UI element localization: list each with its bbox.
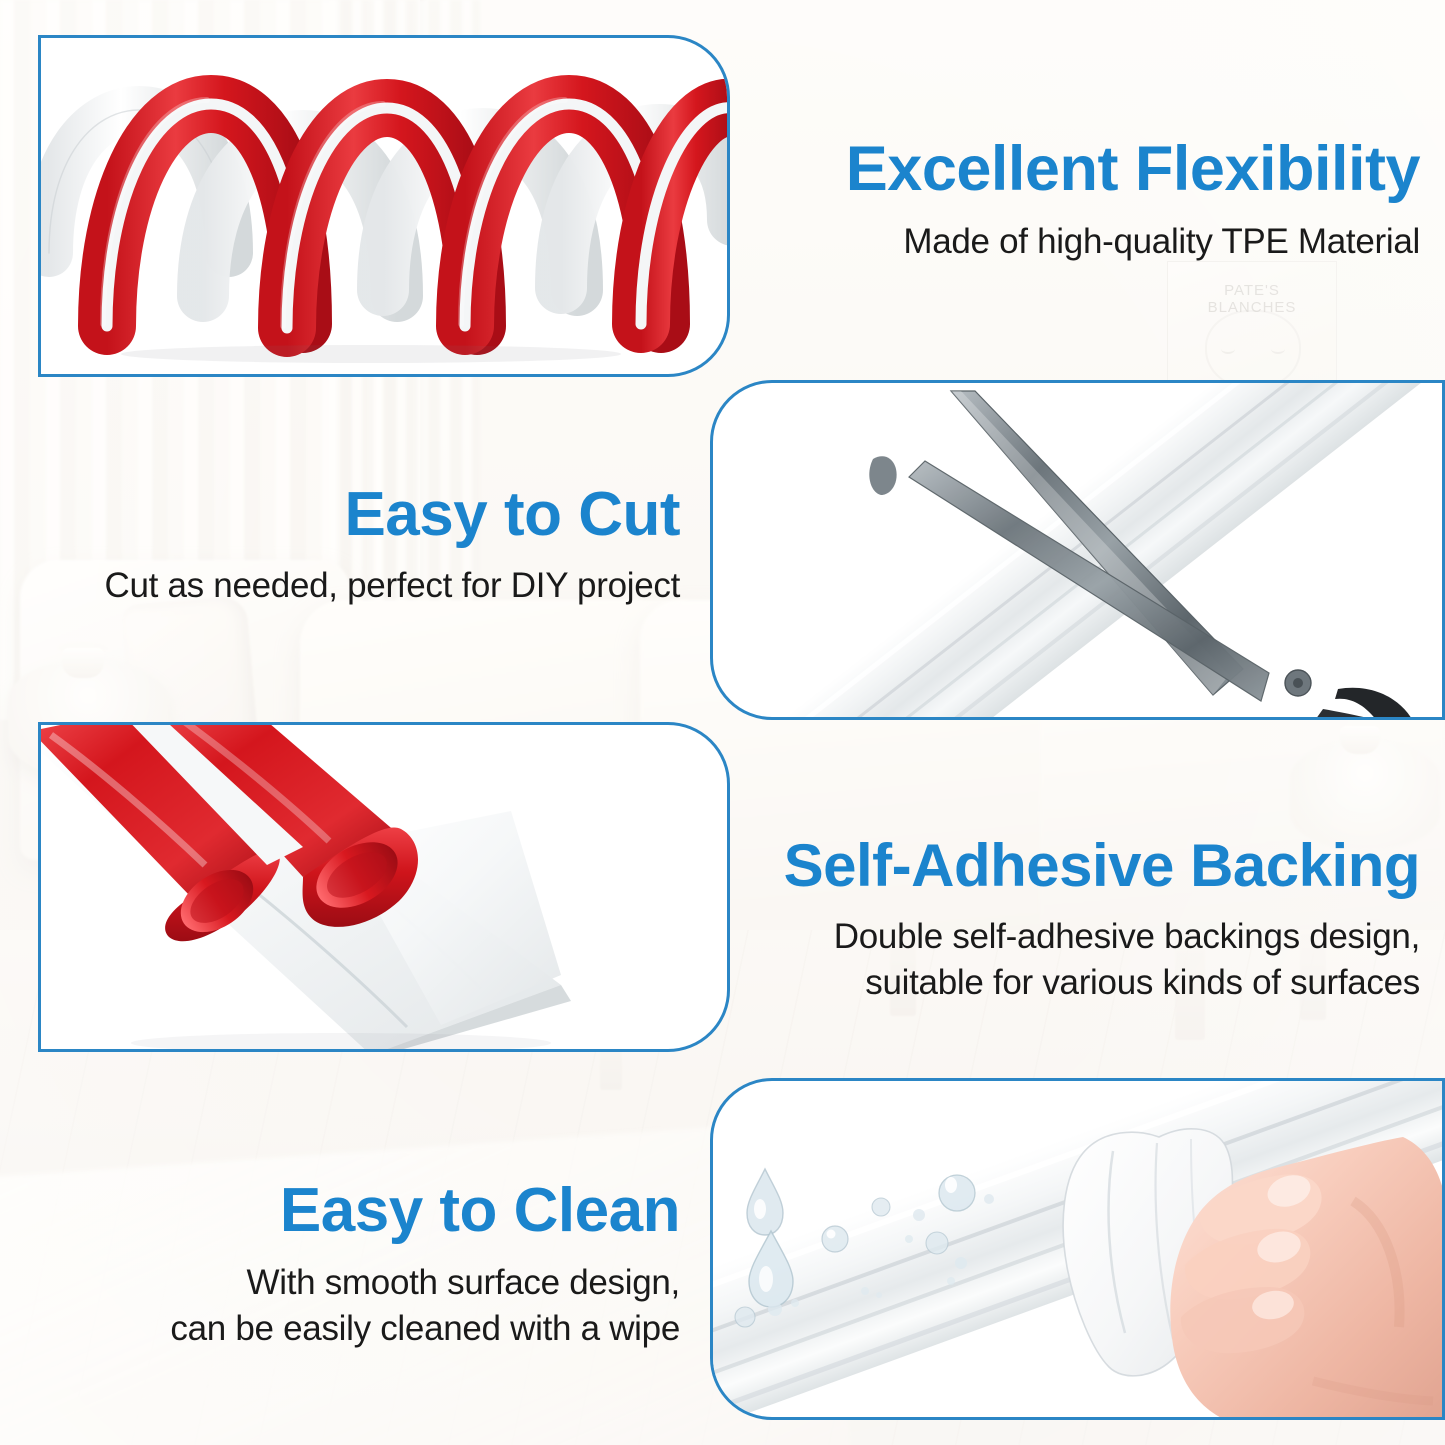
feature-subtext-easy-to-clean: With smooth surface design, can be easil… xyxy=(30,1260,680,1351)
feature-headline-flexibility: Excellent Flexibility xyxy=(760,138,1420,201)
feature-subtext-line: can be easily cleaned with a wipe xyxy=(30,1306,680,1352)
feature-text-easy-to-cut: Easy to Cut Cut as needed, perfect for D… xyxy=(30,484,680,609)
feature-image-panel-easy-to-cut xyxy=(710,380,1445,720)
infographic-canvas: PATE'S BLANCHES xyxy=(0,0,1445,1445)
feature-subtext-line: With smooth surface design, xyxy=(30,1260,680,1306)
feature-text-self-adhesive: Self-Adhesive Backing Double self-adhesi… xyxy=(760,836,1420,1005)
feature-text-flexibility: Excellent Flexibility Made of high-quali… xyxy=(760,138,1420,265)
feature-image-panel-self-adhesive xyxy=(38,722,730,1052)
feature-headline-self-adhesive: Self-Adhesive Backing xyxy=(760,836,1420,896)
feature-headline-easy-to-cut: Easy to Cut xyxy=(30,484,680,546)
coiled-strip-illustration xyxy=(41,38,727,374)
feature-subtext-line: suitable for various kinds of surfaces xyxy=(760,960,1420,1006)
feature-text-easy-to-clean: Easy to Clean With smooth surface design… xyxy=(30,1180,680,1351)
feature-subtext-line: Double self-adhesive backings design, xyxy=(760,914,1420,960)
adhesive-liner-peel-illustration xyxy=(41,725,727,1049)
scissors-cutting-illustration xyxy=(713,383,1442,717)
feature-subtext-line: Made of high-quality TPE Material xyxy=(760,219,1420,265)
feature-subtext-line: Cut as needed, perfect for DIY project xyxy=(30,563,680,609)
feature-image-panel-easy-to-clean xyxy=(710,1078,1445,1420)
feature-subtext-self-adhesive: Double self-adhesive backings design, su… xyxy=(760,914,1420,1005)
feature-image-panel-flexibility xyxy=(38,35,730,377)
feature-headline-easy-to-clean: Easy to Clean xyxy=(30,1180,680,1242)
wipe-cleaning-illustration xyxy=(713,1081,1442,1417)
feature-subtext-flexibility: Made of high-quality TPE Material xyxy=(760,219,1420,265)
feature-subtext-easy-to-cut: Cut as needed, perfect for DIY project xyxy=(30,563,680,609)
